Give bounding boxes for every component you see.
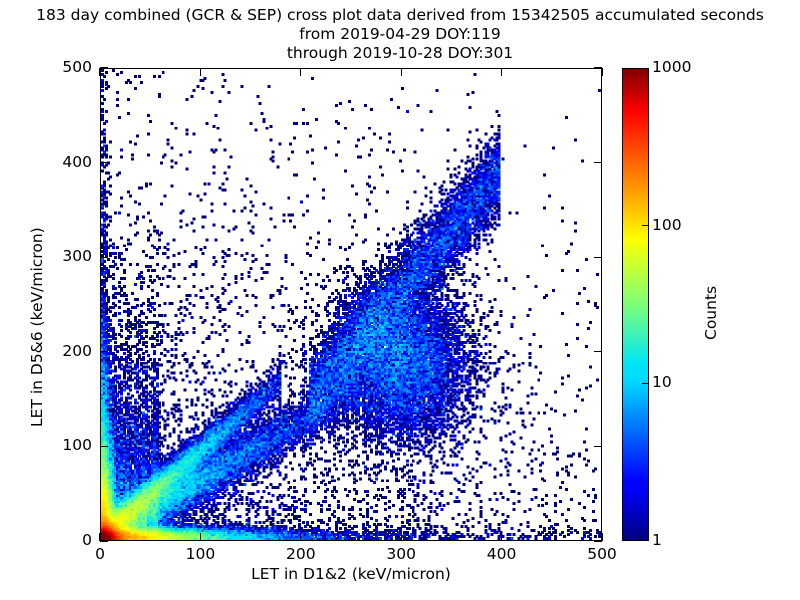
- x-tick-top-200: [300, 68, 301, 76]
- x-tick-top-400: [501, 68, 502, 76]
- colorbar: [622, 68, 649, 541]
- y-tick-right-400: [594, 162, 602, 163]
- x-axis-label: LET in D1&2 (keV/micron): [100, 565, 602, 583]
- colorbar-tick-100: [642, 225, 649, 226]
- title-line-1: 183 day combined (GCR & SEP) cross plot …: [0, 6, 800, 25]
- y-tick-200: [100, 351, 108, 352]
- x-ticklabel-400: 400: [462, 545, 542, 563]
- x-tick-top-100: [200, 68, 201, 76]
- x-tick-100: [200, 533, 201, 541]
- y-ticklabel-400: 400: [40, 153, 92, 171]
- y-tick-right-200: [594, 351, 602, 352]
- x-tick-top-500: [601, 68, 602, 76]
- y-tick-right-100: [594, 446, 602, 447]
- colorbar-ticklabel-1000: 1000: [652, 58, 691, 76]
- x-tick-200: [300, 533, 301, 541]
- colorbar-tick-10: [642, 383, 649, 384]
- x-ticklabel-300: 300: [361, 545, 441, 563]
- title-line-2: from 2019-04-29 DOY:119: [0, 25, 800, 44]
- colorbar-ticklabel-1: 1: [652, 531, 662, 549]
- y-tick-right-300: [594, 257, 602, 258]
- y-tick-right-0: [594, 540, 602, 541]
- x-ticklabel-100: 100: [160, 545, 240, 563]
- y-axis-label: LET in D5&6 (keV/micron): [28, 227, 46, 427]
- y-tick-100: [100, 446, 108, 447]
- y-tick-500: [100, 67, 108, 68]
- y-ticklabel-300: 300: [40, 247, 92, 265]
- y-tick-300: [100, 257, 108, 258]
- y-ticklabel-0: 0: [40, 531, 92, 549]
- figure-title: 183 day combined (GCR & SEP) cross plot …: [0, 6, 800, 63]
- colorbar-ticklabel-100: 100: [652, 216, 682, 234]
- density-heatmap: [101, 69, 601, 540]
- x-ticklabel-500: 500: [562, 545, 642, 563]
- colorbar-gradient: [623, 69, 648, 540]
- x-ticklabel-200: 200: [261, 545, 341, 563]
- y-tick-400: [100, 162, 108, 163]
- y-ticklabel-100: 100: [40, 436, 92, 454]
- colorbar-ticklabel-10: 10: [652, 373, 672, 391]
- colorbar-label: Counts: [702, 286, 720, 340]
- y-ticklabel-500: 500: [40, 58, 92, 76]
- x-tick-top-0: [99, 68, 100, 76]
- y-tick-right-500: [594, 67, 602, 68]
- y-tick-0: [100, 540, 108, 541]
- x-tick-top-300: [401, 68, 402, 76]
- x-tick-400: [501, 533, 502, 541]
- y-ticklabel-200: 200: [40, 342, 92, 360]
- figure-canvas: 183 day combined (GCR & SEP) cross plot …: [0, 0, 800, 600]
- plot-axes-frame: [100, 68, 602, 541]
- x-tick-300: [401, 533, 402, 541]
